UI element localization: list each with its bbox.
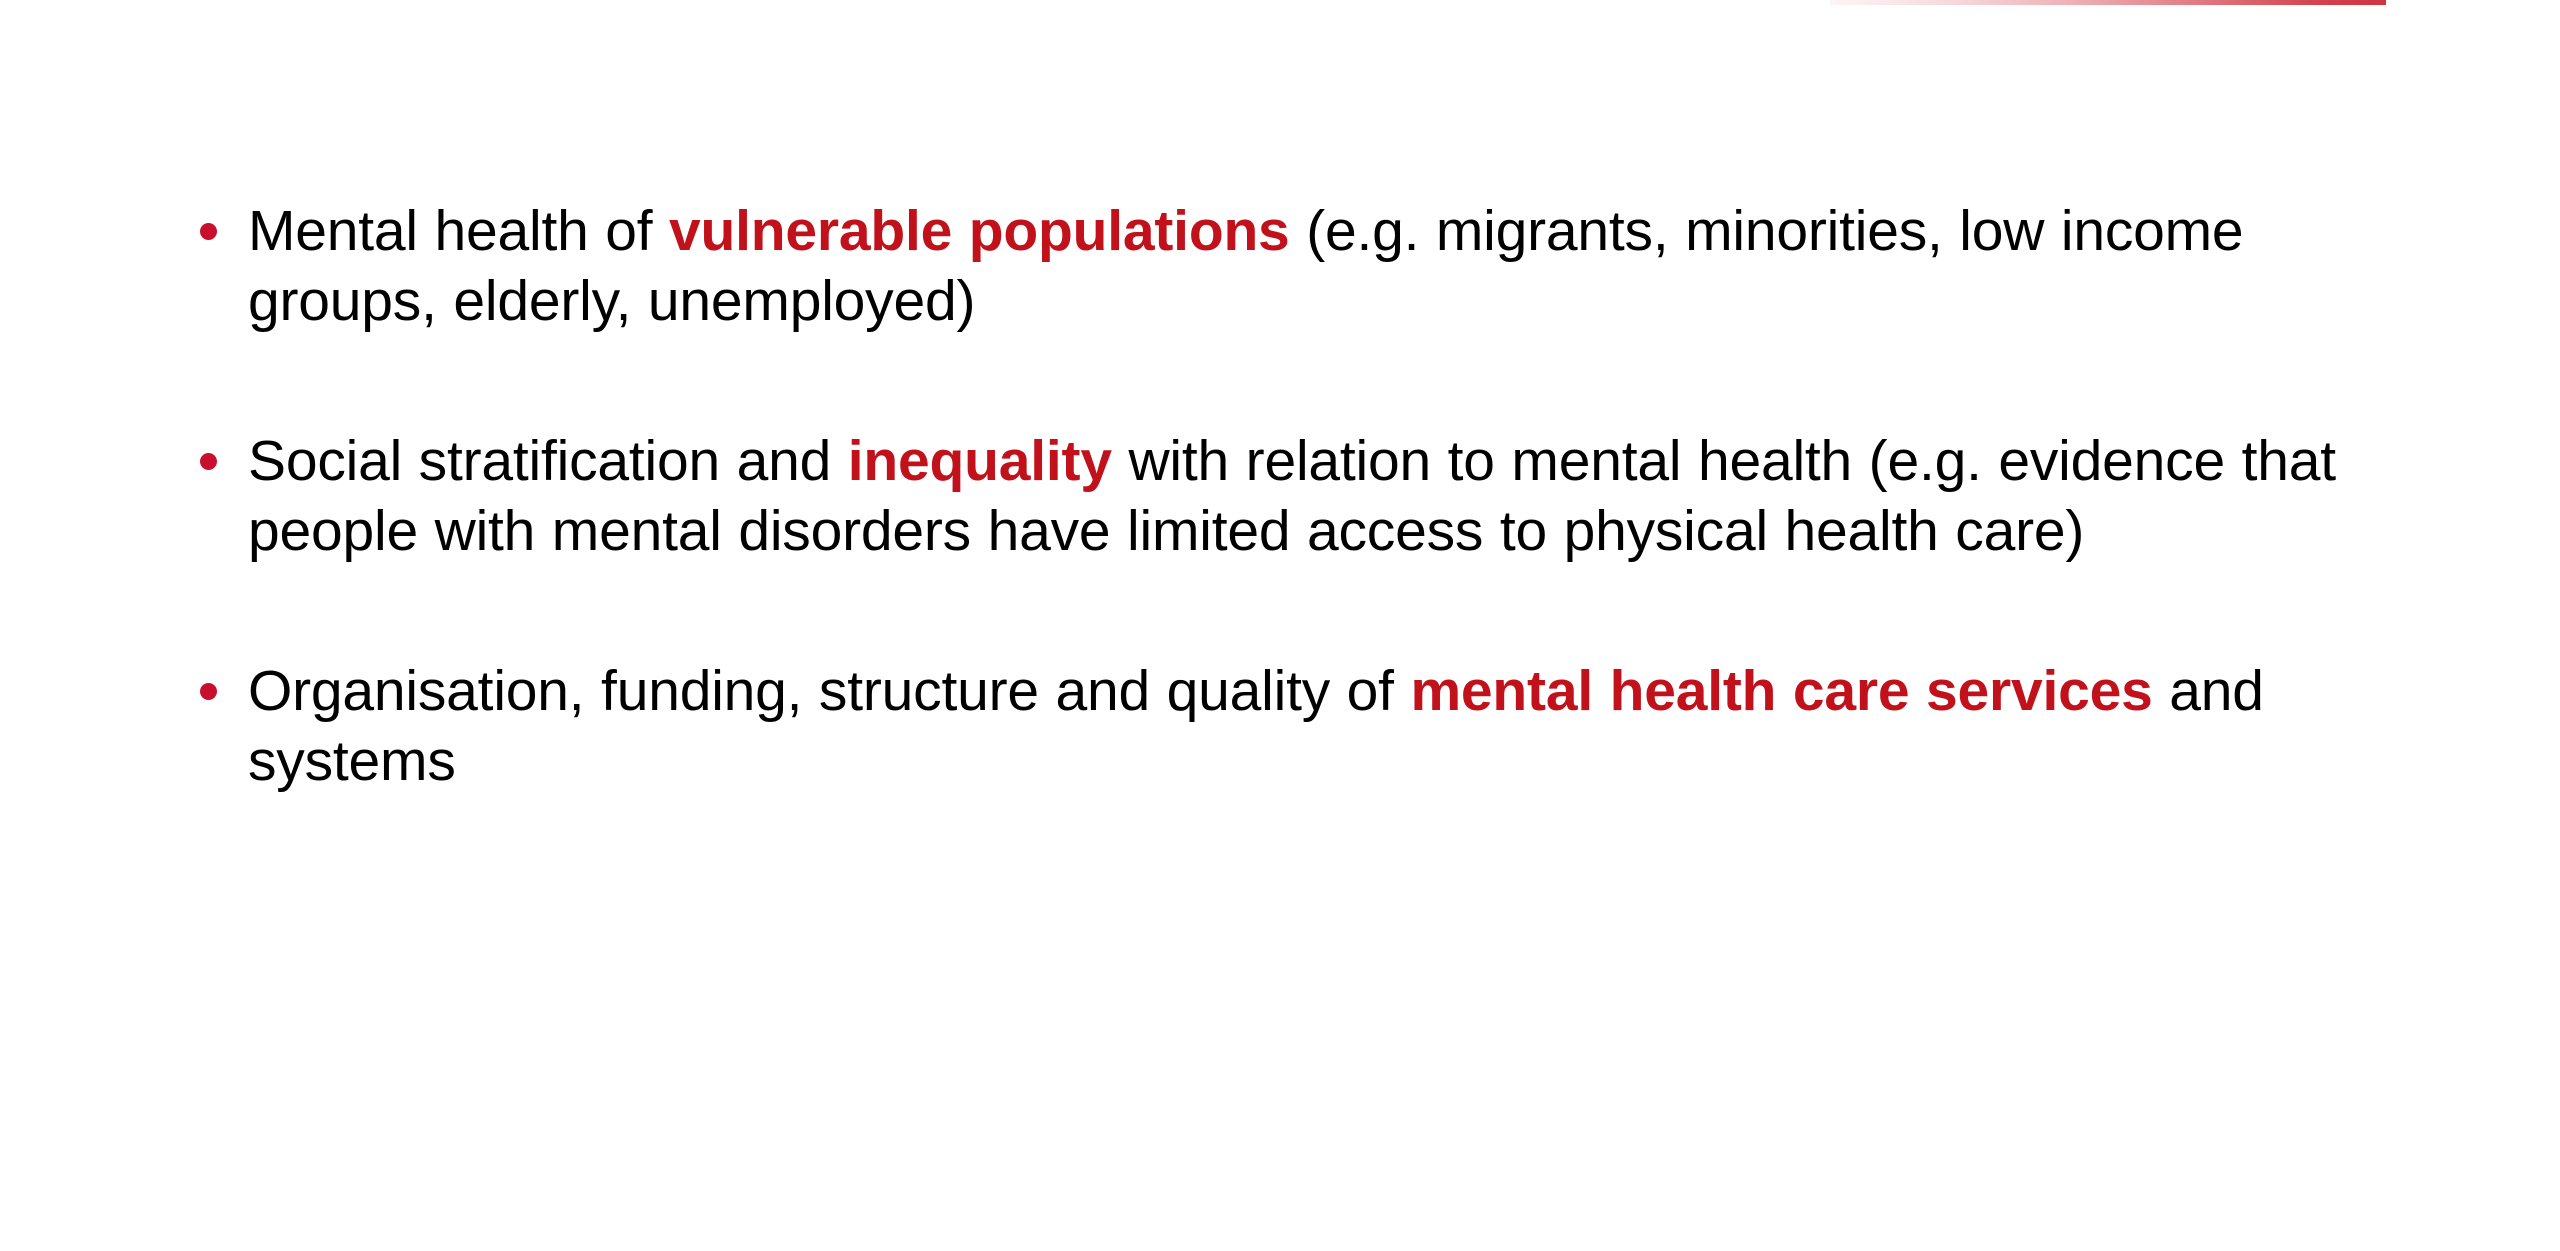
bullet-text-1: Mental health of vulnerable populations … <box>248 196 2386 336</box>
bullet-2-highlight: inequality <box>848 429 1112 493</box>
bullet-3-segment-0: Organisation, funding, structure and qua… <box>248 659 1410 723</box>
red-dot-bullet-icon <box>200 223 217 240</box>
bullet-text-2: Social stratification and inequality wit… <box>248 426 2386 566</box>
list-item: Social stratification and inequality wit… <box>186 426 2386 566</box>
bullet-1-highlight: vulnerable populations <box>669 199 1290 263</box>
slide-body-content: Mental health of vulnerable populations … <box>186 196 2386 796</box>
red-dot-bullet-icon <box>200 453 217 470</box>
top-gradient-rule-decoration <box>1830 0 2386 5</box>
bullet-2-segment-0: Social stratification and <box>248 429 848 493</box>
bullet-1-segment-0: Mental health of <box>248 199 669 263</box>
list-item: Organisation, funding, structure and qua… <box>186 656 2386 796</box>
red-dot-bullet-icon <box>200 683 217 700</box>
bullet-3-highlight: mental health care services <box>1410 659 2152 723</box>
list-item: Mental health of vulnerable populations … <box>186 196 2386 336</box>
presentation-slide: Mental health of vulnerable populations … <box>0 0 2560 1251</box>
bullet-text-3: Organisation, funding, structure and qua… <box>248 656 2386 796</box>
